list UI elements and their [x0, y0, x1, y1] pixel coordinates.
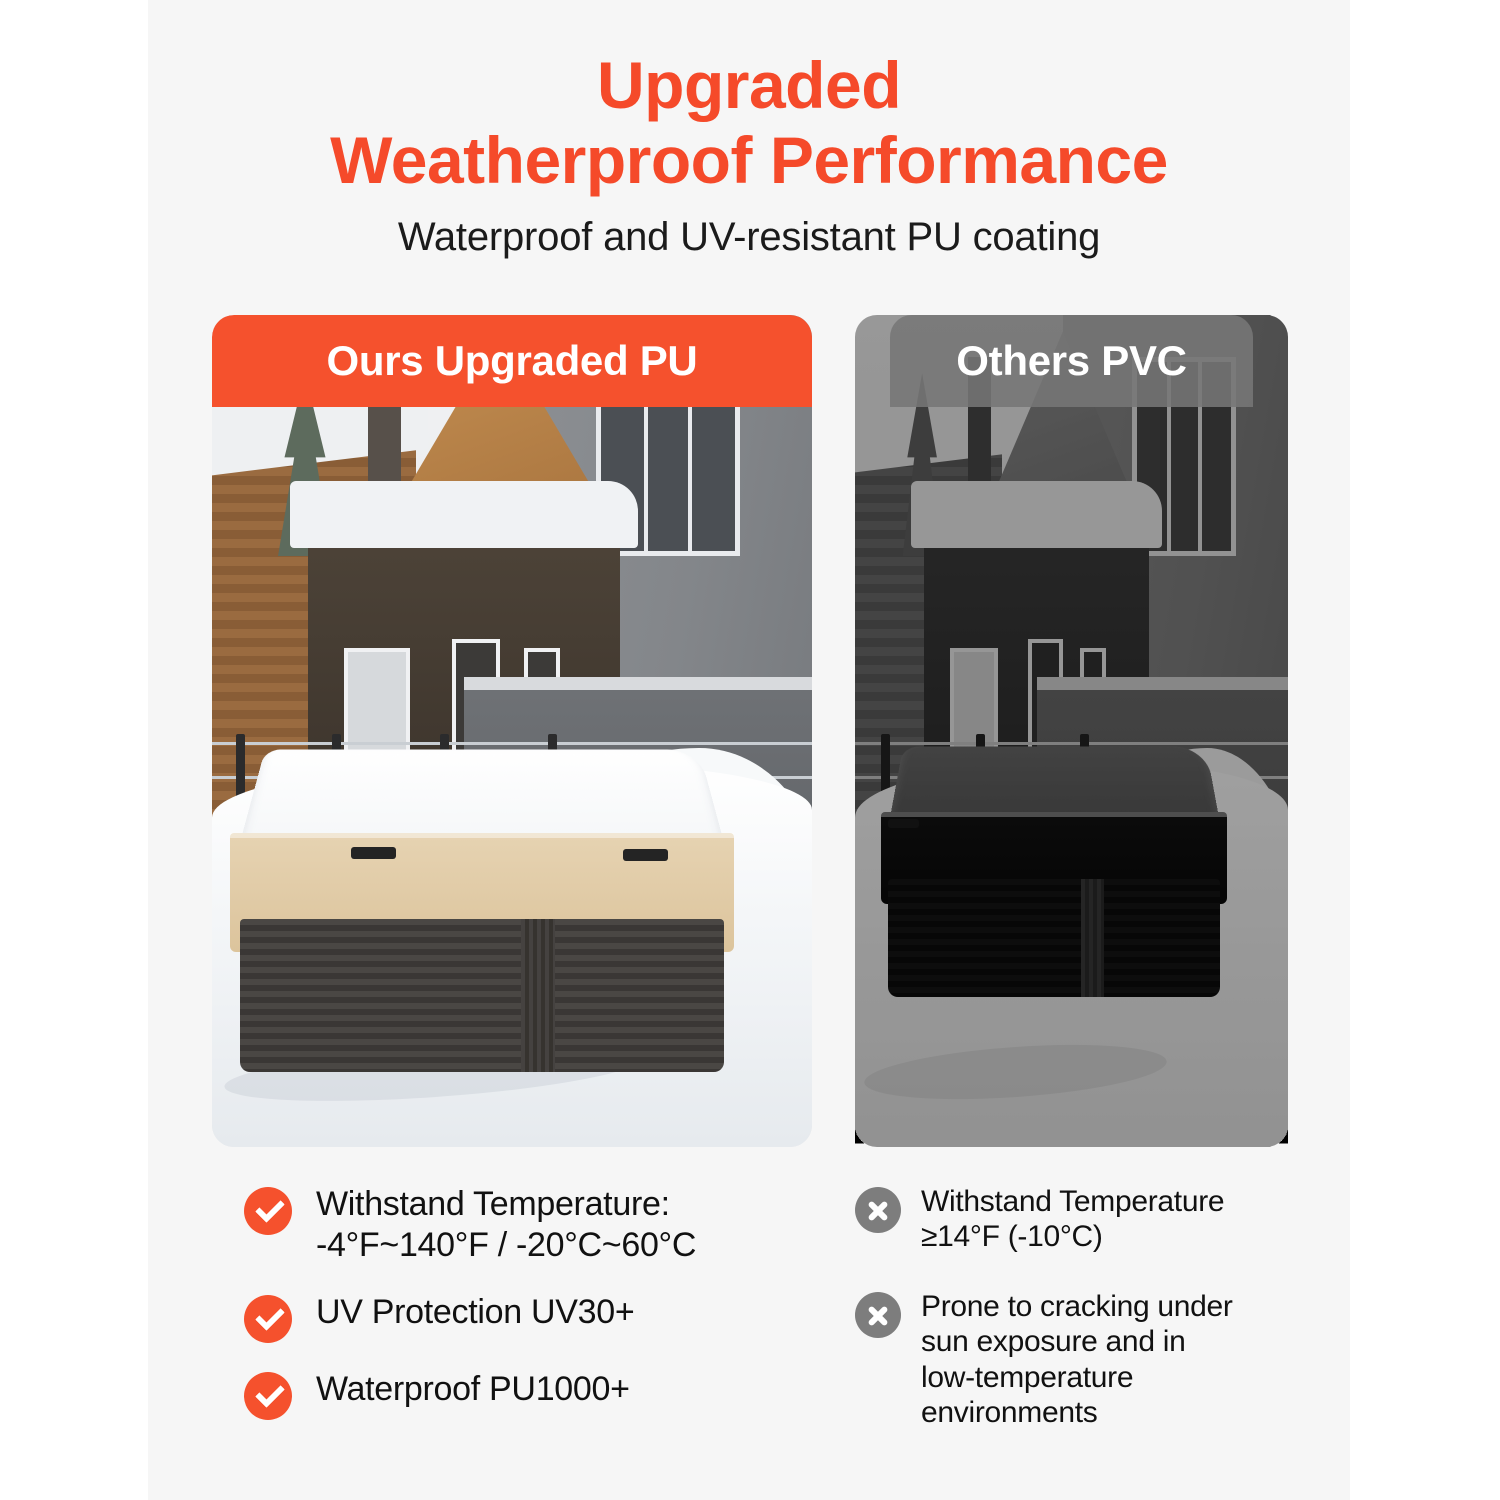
check-icon — [244, 1295, 292, 1343]
photo-others — [855, 315, 1288, 1147]
feature-list-others: Withstand Temperature ≥14°F (-10°C) Pron… — [855, 1184, 1305, 1464]
eave-snow — [1037, 677, 1288, 690]
panel-title-others: Others PVC — [890, 315, 1253, 407]
cover-handle — [623, 849, 668, 861]
marketing-infographic: Upgraded Weatherproof Performance Waterp… — [0, 0, 1500, 1500]
check-icon — [244, 1187, 292, 1235]
page-headline: Upgraded Weatherproof Performance — [148, 48, 1350, 197]
content-canvas: Upgraded Weatherproof Performance Waterp… — [148, 0, 1350, 1500]
tub-cabinet — [888, 879, 1221, 998]
photo-ours — [212, 315, 812, 1147]
comparison-panels: Ours Upgraded PU — [148, 315, 1350, 1147]
feature-lists: Withstand Temperature: -4°F~140°F / -20°… — [148, 1184, 1350, 1484]
feature-label: Prone to cracking under sun exposure and… — [921, 1289, 1233, 1431]
list-item: Waterproof PU1000+ — [244, 1369, 804, 1420]
list-item: Prone to cracking under sun exposure and… — [855, 1289, 1305, 1431]
cover-handle — [888, 819, 919, 828]
cover-handle — [351, 847, 396, 859]
tub-cabinet — [240, 919, 724, 1072]
list-item: Withstand Temperature ≥14°F (-10°C) — [855, 1184, 1305, 1255]
hot-tub-ours — [230, 739, 734, 1072]
panel-others: Others PVC — [855, 315, 1288, 1147]
cross-icon — [855, 1187, 901, 1233]
hot-tub-others — [881, 739, 1227, 997]
panel-ours: Ours Upgraded PU — [212, 315, 812, 1147]
feature-label: Withstand Temperature: -4°F~140°F / -20°… — [316, 1184, 696, 1266]
header-block: Upgraded Weatherproof Performance Waterp… — [148, 48, 1350, 260]
list-item: Withstand Temperature: -4°F~140°F / -20°… — [244, 1184, 804, 1266]
feature-label: UV Protection UV30+ — [316, 1292, 634, 1333]
page-subheadline: Waterproof and UV-resistant PU coating — [148, 215, 1350, 260]
roof-snow — [911, 481, 1162, 548]
roof-snow — [290, 481, 638, 548]
list-item: UV Protection UV30+ — [244, 1292, 804, 1343]
eave-snow — [464, 677, 812, 690]
check-icon — [244, 1372, 292, 1420]
feature-label: Waterproof PU1000+ — [316, 1369, 630, 1410]
cross-icon — [855, 1292, 901, 1338]
feature-list-ours: Withstand Temperature: -4°F~140°F / -20°… — [244, 1184, 804, 1446]
feature-label: Withstand Temperature ≥14°F (-10°C) — [921, 1184, 1224, 1255]
panel-title-ours: Ours Upgraded PU — [212, 315, 812, 407]
